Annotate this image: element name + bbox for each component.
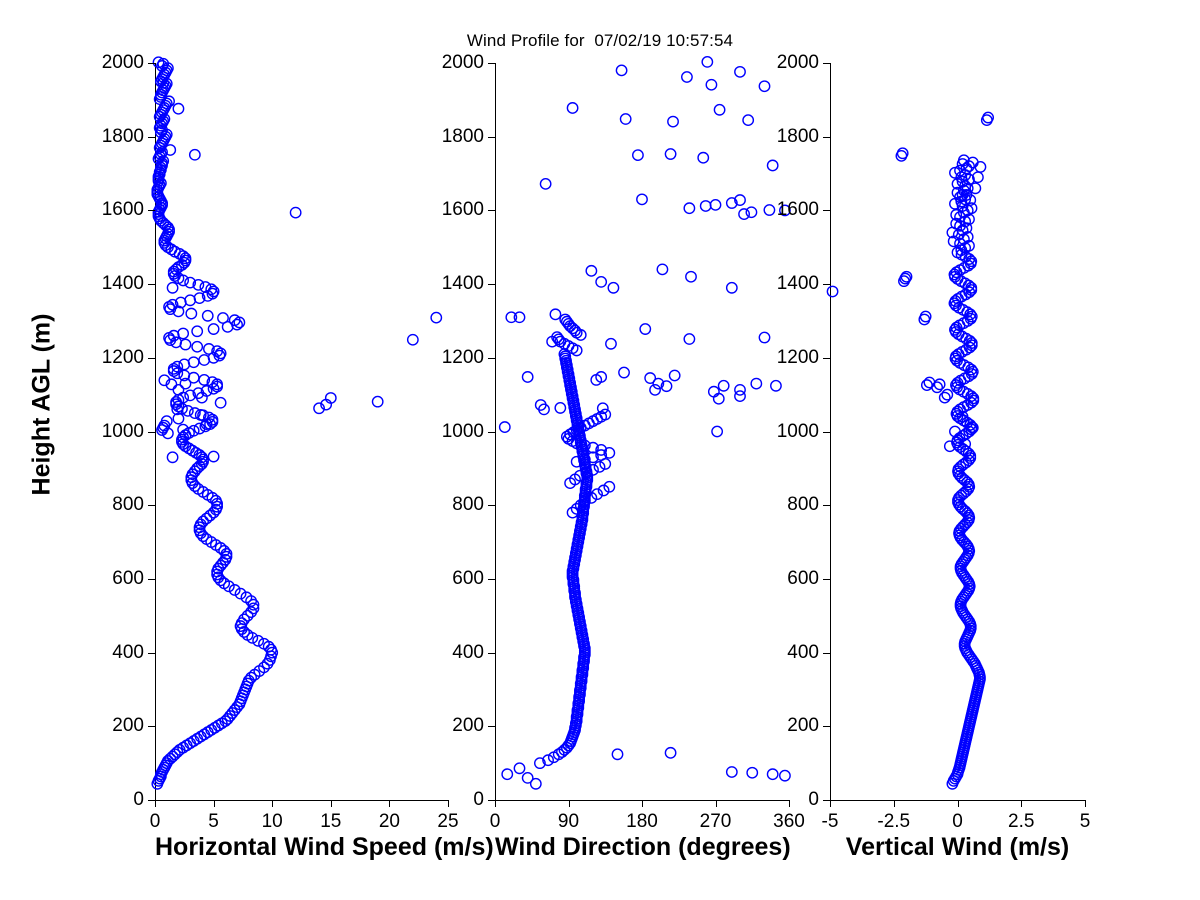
y-axis-tick-label: 1200 [777, 347, 819, 369]
data-point [167, 283, 177, 293]
x-axis-tick [389, 800, 390, 807]
data-point [669, 370, 679, 380]
x-axis-tick [448, 800, 449, 807]
y-axis-tick-label: 400 [112, 642, 144, 664]
y-axis-tick [823, 579, 830, 580]
y-axis-label: Height AGL (m) [28, 295, 57, 515]
y-axis-tick [488, 579, 495, 580]
data-point [970, 183, 980, 193]
data-point [502, 769, 512, 779]
data-point [186, 308, 196, 318]
y-axis-tick-label: 1000 [102, 421, 144, 443]
data-point [932, 382, 942, 392]
data-point [180, 339, 190, 349]
data-point [709, 387, 719, 397]
data-point [942, 389, 952, 399]
x-axis-tick [155, 800, 156, 807]
y-axis-tick [488, 284, 495, 285]
data-point [192, 342, 202, 352]
y-axis-tick-label: 200 [112, 715, 144, 737]
data-point [827, 286, 837, 296]
y-axis-tick [823, 137, 830, 138]
y-axis-tick [823, 505, 830, 506]
data-point [253, 636, 263, 646]
y-axis-tick-label: 800 [452, 494, 484, 516]
data-point [199, 355, 209, 365]
data-point [431, 312, 441, 322]
y-axis-tick-label: 200 [787, 715, 819, 737]
data-point [718, 381, 728, 391]
data-point [682, 72, 692, 82]
x-axis-tick [716, 800, 717, 807]
data-point [665, 748, 675, 758]
y-axis-tick-label: 0 [133, 789, 144, 811]
x-axis-tick-label: 5 [208, 811, 219, 833]
data-point [633, 150, 643, 160]
data-point [727, 283, 737, 293]
data-point [747, 768, 757, 778]
x-axis-tick [272, 800, 273, 807]
y-axis-tick-label: 800 [112, 494, 144, 516]
x-axis-tick [789, 800, 790, 807]
x-axis-tick-label: 270 [700, 811, 732, 833]
data-point [215, 398, 225, 408]
x-axis-tick-label: 25 [437, 811, 458, 833]
y-axis-tick-label: 2000 [102, 52, 144, 74]
figure-title: Wind Profile for 07/02/19 10:57:54 [0, 31, 1200, 51]
x-axis-tick-label: 360 [773, 811, 805, 833]
data-point [190, 150, 200, 160]
data-point [188, 357, 198, 367]
data-point [620, 114, 630, 124]
y-axis-tick-label: 2000 [777, 52, 819, 74]
y-axis-tick [148, 505, 155, 506]
y-axis-tick [148, 653, 155, 654]
y-axis-tick [823, 726, 830, 727]
data-point [173, 385, 183, 395]
y-axis-tick [823, 284, 830, 285]
data-point [668, 116, 678, 126]
x-axis-tick [569, 800, 570, 807]
scatter-points-wind-direction [495, 63, 789, 800]
data-point [767, 769, 777, 779]
data-point [586, 266, 596, 276]
y-axis-tick-label: 600 [112, 568, 144, 590]
data-point [616, 65, 626, 75]
y-axis-tick [488, 505, 495, 506]
y-axis-tick-label: 800 [787, 494, 819, 516]
data-point [934, 379, 944, 389]
data-point [540, 179, 550, 189]
data-point [922, 380, 932, 390]
x-axis-tick-label: 180 [626, 811, 658, 833]
x-axis-tick-label: 20 [379, 811, 400, 833]
y-axis-tick [488, 653, 495, 654]
x-axis-label-horizontal-wind-speed: Horizontal Wind Speed (m/s) [155, 833, 448, 862]
data-point [702, 57, 712, 67]
y-axis-tick [148, 432, 155, 433]
data-point [167, 452, 177, 462]
scatter-points-vertical-wind [830, 63, 1085, 800]
data-point [735, 67, 745, 77]
data-point [608, 283, 618, 293]
y-axis-tick [488, 726, 495, 727]
data-point [686, 272, 696, 282]
y-axis-tick-label: 1000 [777, 421, 819, 443]
y-axis-tick-label: 1400 [777, 273, 819, 295]
data-point [684, 203, 694, 213]
y-axis-tick-label: 0 [808, 789, 819, 811]
data-point [606, 339, 616, 349]
data-point [179, 359, 189, 369]
data-point [665, 149, 675, 159]
data-point [567, 103, 577, 113]
y-axis-tick-label: 600 [787, 568, 819, 590]
y-axis-tick [488, 137, 495, 138]
data-point [735, 391, 745, 401]
data-point [714, 394, 724, 404]
y-axis-tick-label: 1800 [777, 126, 819, 148]
data-point [173, 103, 183, 113]
x-axis-tick-label: -2.5 [877, 811, 910, 833]
data-point [746, 207, 756, 217]
y-axis-tick [488, 800, 495, 801]
x-axis-label-vertical-wind: Vertical Wind (m/s) [830, 833, 1085, 862]
x-axis-tick-label: 10 [262, 811, 283, 833]
data-point [739, 209, 749, 219]
data-point [759, 332, 769, 342]
y-axis-tick-label: 1800 [442, 126, 484, 148]
y-axis-tick-label: 1600 [777, 199, 819, 221]
x-axis-tick-label: 15 [320, 811, 341, 833]
data-point [759, 81, 769, 91]
panel-wind-direction: 0200400600800100012001400160018002000090… [495, 63, 789, 800]
y-axis-tick [148, 284, 155, 285]
data-point [203, 311, 213, 321]
x-axis-tick [958, 800, 959, 807]
data-point [178, 328, 188, 338]
data-point [706, 80, 716, 90]
x-axis-tick [214, 800, 215, 807]
x-axis-tick [830, 800, 831, 807]
x-axis-tick-label: 5 [1080, 811, 1091, 833]
y-axis-tick-label: 200 [452, 715, 484, 737]
panel-vertical-wind: 0200400600800100012001400160018002000-5-… [830, 63, 1085, 800]
data-point [514, 763, 524, 773]
y-axis-tick-label: 400 [787, 642, 819, 664]
data-point [714, 105, 724, 115]
data-point [767, 160, 777, 170]
y-axis-tick [823, 432, 830, 433]
y-axis-tick-label: 1800 [102, 126, 144, 148]
y-axis-tick-label: 600 [452, 568, 484, 590]
y-axis-tick [488, 358, 495, 359]
y-axis-tick [823, 63, 830, 64]
x-axis-tick-label: -5 [822, 811, 839, 833]
x-axis-tick-label: 0 [952, 811, 963, 833]
y-axis-tick-label: 1600 [442, 199, 484, 221]
data-point [567, 323, 577, 333]
data-point [596, 277, 606, 287]
data-point [650, 385, 660, 395]
data-point [698, 153, 708, 163]
data-point [727, 767, 737, 777]
panel-horizontal-wind-speed: 0200400600800100012001400160018002000051… [155, 63, 448, 800]
data-point [940, 392, 950, 402]
data-point [780, 770, 790, 780]
y-axis-tick-label: 2000 [442, 52, 484, 74]
y-axis-tick-label: 1200 [102, 347, 144, 369]
data-point [743, 115, 753, 125]
data-point [612, 749, 622, 759]
y-axis-tick [488, 63, 495, 64]
data-point [218, 313, 228, 323]
data-point [657, 264, 667, 274]
y-axis-tick-label: 1600 [102, 199, 144, 221]
data-point [640, 324, 650, 334]
data-point [975, 162, 985, 172]
x-axis-tick-label: 90 [558, 811, 579, 833]
y-axis-tick-label: 1400 [442, 273, 484, 295]
data-point [522, 372, 532, 382]
y-axis-tick [148, 579, 155, 580]
data-point [712, 426, 722, 436]
data-point [290, 207, 300, 217]
wind-profile-figure: Wind Profile for 07/02/19 10:57:54 Heigh… [0, 0, 1200, 900]
data-point [684, 334, 694, 344]
x-axis-tick [894, 800, 895, 807]
data-point [637, 194, 647, 204]
y-axis-tick [148, 800, 155, 801]
data-point [771, 381, 781, 391]
x-axis-tick [495, 800, 496, 807]
y-axis-tick [823, 800, 830, 801]
y-axis-tick [488, 432, 495, 433]
x-axis-tick [1021, 800, 1022, 807]
data-point [764, 205, 774, 215]
x-axis-label-wind-direction: Wind Direction (degrees) [495, 833, 789, 862]
y-axis-tick [488, 210, 495, 211]
x-axis-tick [331, 800, 332, 807]
data-point [500, 422, 510, 432]
y-axis-tick [823, 210, 830, 211]
x-axis-tick-label: 0 [150, 811, 161, 833]
x-axis-tick-label: 0 [490, 811, 501, 833]
data-point [531, 779, 541, 789]
x-axis-tick [642, 800, 643, 807]
x-axis-tick [1085, 800, 1086, 807]
scatter-points-horizontal-wind-speed [155, 63, 448, 800]
y-axis-tick [823, 358, 830, 359]
y-axis-tick [148, 210, 155, 211]
data-point [372, 396, 382, 406]
y-axis-tick-label: 1000 [442, 421, 484, 443]
data-point [924, 377, 934, 387]
data-point [751, 378, 761, 388]
y-axis-tick-label: 1200 [442, 347, 484, 369]
data-point [408, 335, 418, 345]
data-point [619, 367, 629, 377]
y-axis-tick [148, 726, 155, 727]
data-point [710, 200, 720, 210]
data-point [208, 324, 218, 334]
y-axis-tick-label: 0 [473, 789, 484, 811]
y-axis-tick-label: 1400 [102, 273, 144, 295]
data-point [185, 295, 195, 305]
y-axis-tick [148, 358, 155, 359]
data-point [208, 451, 218, 461]
data-point [735, 385, 745, 395]
y-axis-tick [148, 137, 155, 138]
y-axis-tick-label: 400 [452, 642, 484, 664]
data-point [555, 403, 565, 413]
data-point [550, 309, 560, 319]
x-axis-tick-label: 2.5 [1008, 811, 1034, 833]
y-axis-tick [823, 653, 830, 654]
data-point [701, 201, 711, 211]
y-axis-tick [148, 63, 155, 64]
data-point [192, 326, 202, 336]
